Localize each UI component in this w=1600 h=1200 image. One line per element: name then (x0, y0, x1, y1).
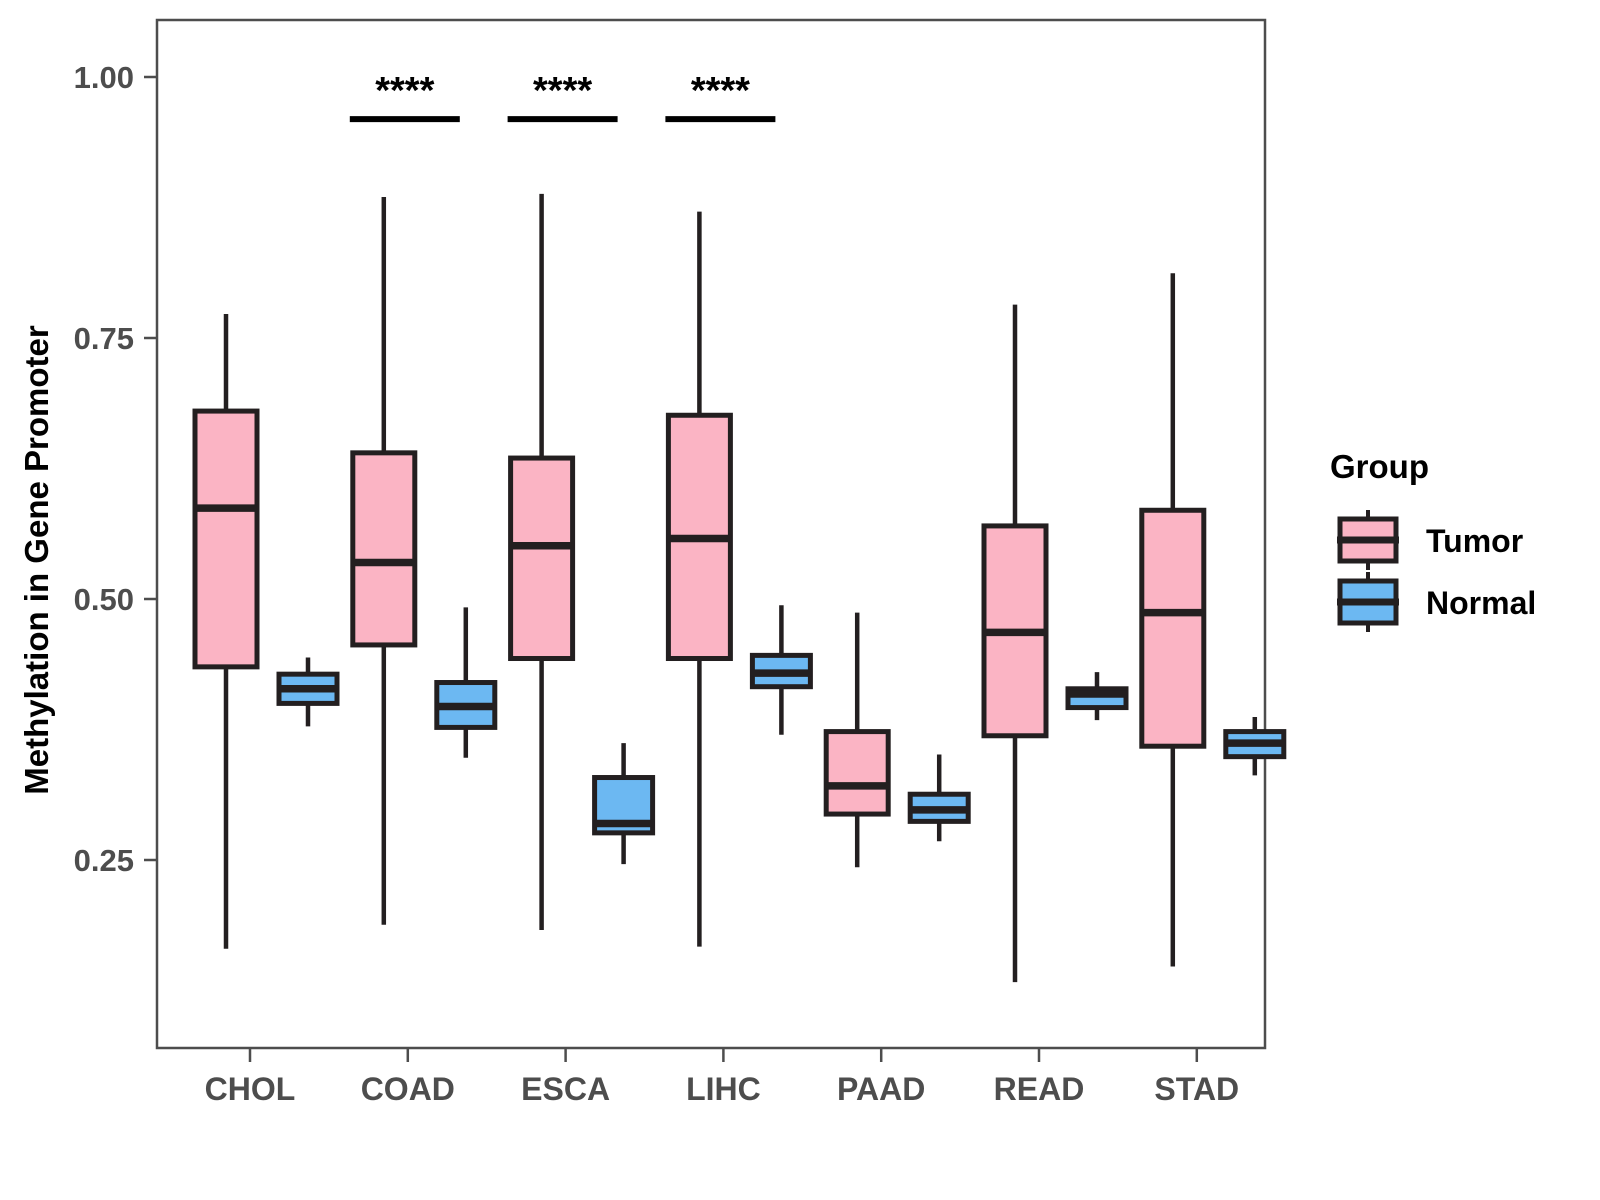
legend-title: Group (1330, 448, 1429, 485)
legend-label-tumor: Tumor (1426, 523, 1523, 559)
significance-stars-esca: **** (533, 70, 592, 112)
x-tick-label-coad: COAD (361, 1071, 455, 1107)
x-tick-label-esca: ESCA (521, 1071, 610, 1107)
box-rect (826, 732, 888, 814)
y-tick-label: 0.25 (74, 843, 134, 878)
y-tick-label: 0.50 (74, 582, 134, 617)
x-tick-label-lihc: LIHC (686, 1071, 761, 1107)
box-rect (511, 458, 573, 658)
x-tick-label-read: READ (994, 1071, 1085, 1107)
significance-stars-lihc: **** (691, 70, 750, 112)
boxplot-figure: Methylation in Gene Promoter 0.250.500.7… (0, 0, 1600, 1200)
significance-annotations-layer: ************ (350, 70, 776, 119)
y-tick-label: 0.75 (74, 321, 134, 356)
x-tick-label-stad: STAD (1154, 1071, 1239, 1107)
significance-stars-coad: **** (375, 70, 434, 112)
x-tick-label-chol: CHOL (205, 1071, 296, 1107)
box-rect (1142, 510, 1204, 746)
x-tick-label-paad: PAAD (837, 1071, 925, 1107)
legend-label-normal: Normal (1426, 585, 1536, 621)
methylation-boxplot-svg: Methylation in Gene Promoter 0.250.500.7… (0, 0, 1600, 1200)
box-rect (195, 411, 257, 667)
y-axis-title: Methylation in Gene Promoter (18, 325, 55, 795)
y-tick-label: 1.00 (74, 60, 134, 95)
box-rect (353, 453, 415, 645)
